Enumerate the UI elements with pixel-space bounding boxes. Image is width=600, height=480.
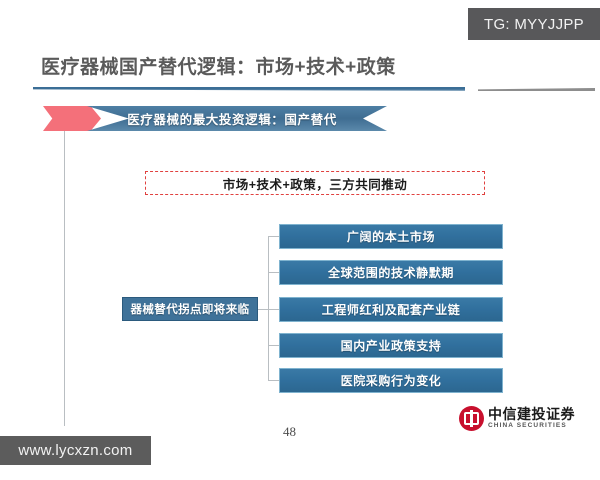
divider-gray-segment: [478, 88, 595, 91]
left-label-box: 器械替代拐点即将来临: [122, 297, 258, 321]
title-divider: [0, 86, 600, 96]
banner-label: 医疗器械的最大投资逻辑：国产替代: [87, 106, 377, 131]
item-label: 国内产业政策支持: [341, 337, 442, 354]
item-label: 全球范围的技术静默期: [328, 264, 454, 281]
left-label-text: 器械替代拐点即将来临: [131, 301, 250, 317]
bracket-trunk: [268, 236, 269, 380]
page-number: 48: [283, 424, 296, 440]
page-title: 医疗器械国产替代逻辑：市场+技术+政策: [41, 52, 396, 79]
brand-logo: 中信建投证券 CHINA SECURITIES: [459, 405, 590, 431]
item-box: 全球范围的技术静默期: [279, 260, 503, 285]
logo-wordmark: 中信建投证券 CHINA SECURITIES: [488, 407, 575, 430]
item-label: 工程师红利及配套产业链: [322, 301, 461, 318]
china-securities-emblem-icon: [459, 406, 484, 431]
section-banner: 医疗器械的最大投资逻辑：国产替代: [43, 106, 387, 131]
divider-blue-segment: [33, 87, 465, 91]
logo-chinese-name: 中信建投证券: [488, 407, 575, 421]
callout-box: 市场+技术+政策，三方共同推动: [145, 171, 485, 195]
item-box: 国内产业政策支持: [279, 333, 503, 358]
telegram-watermark: TG: MYYJJPP: [468, 8, 600, 40]
vertical-guide-line: [64, 131, 65, 426]
item-box: 医院采购行为变化: [279, 368, 503, 393]
item-box: 工程师红利及配套产业链: [279, 297, 503, 322]
callout-text: 市场+技术+政策，三方共同推动: [223, 174, 408, 193]
item-label: 医院采购行为变化: [341, 372, 442, 389]
item-box: 广阔的本土市场: [279, 224, 503, 249]
site-watermark: www.lycxzn.com: [0, 436, 151, 465]
logo-english-name: CHINA SECURITIES: [488, 423, 575, 430]
slide-canvas: TG: MYYJJPP www.lycxzn.com 医疗器械国产替代逻辑：市场…: [0, 0, 600, 480]
item-label: 广阔的本土市场: [347, 228, 435, 245]
